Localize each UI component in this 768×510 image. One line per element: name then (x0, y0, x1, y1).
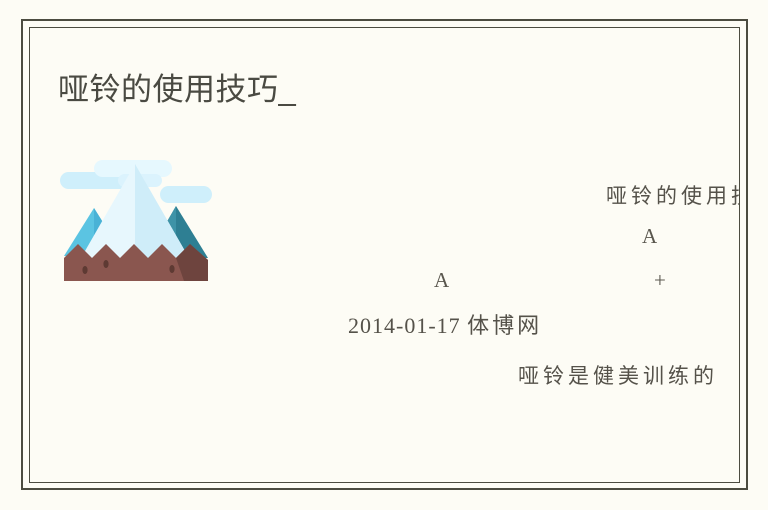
article-meta: 2014-01-17 体博网 (348, 308, 542, 340)
article-title-text: 哑铃的使用技 (606, 180, 740, 210)
mountain-landscape-placeholder-icon (56, 148, 216, 300)
page-title: 哑铃的使用技巧_ (58, 71, 296, 109)
page-root: 哑铃的使用技巧_ (0, 0, 768, 510)
article-date: 2014-01-17 (348, 313, 461, 338)
plus-icon[interactable]: + (654, 268, 666, 293)
font-size-large-glyph[interactable]: A (642, 224, 657, 249)
font-size-small-glyph[interactable]: A (434, 268, 449, 293)
article-excerpt-text: 哑铃是健美训练的 (518, 360, 718, 390)
article-source: 体博网 (467, 314, 542, 339)
inner-border-frame: 哑铃的使用技巧_ (29, 27, 740, 483)
